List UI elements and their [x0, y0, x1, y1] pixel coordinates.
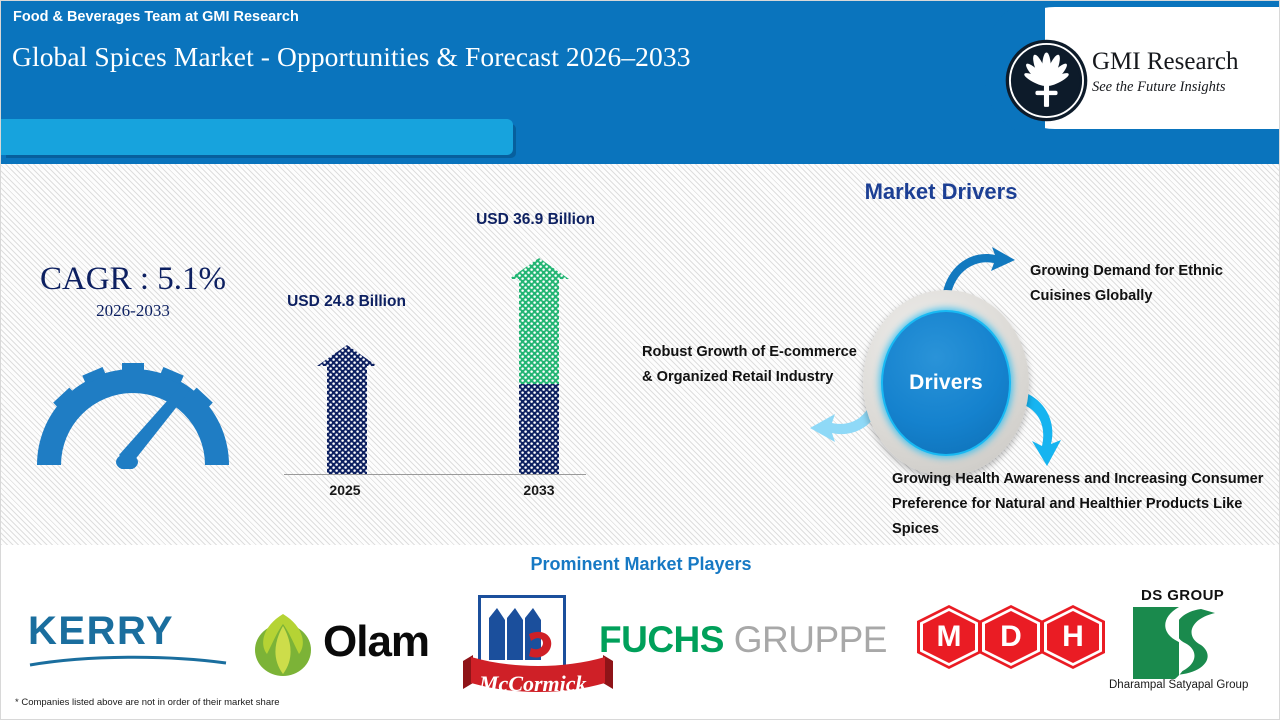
mdh-hex-h: H — [1041, 605, 1105, 669]
ds-group-subtitle: Dharampal Satyapal Group — [1109, 679, 1248, 691]
header-bar: Global Spices Market - Opportunities & F… — [1, 1, 1280, 164]
subtitle-text: Food & Beverages Team at GMI Research — [13, 9, 299, 25]
bar-tick-2033: 2033 — [498, 482, 580, 498]
page-title: Global Spices Market - Opportunities & F… — [12, 41, 872, 73]
drivers-hub: Drivers — [863, 290, 1029, 476]
cagr-value: CAGR : 5.1% — [13, 261, 253, 298]
speedometer-gauge-icon — [23, 339, 243, 469]
bar-value-label-2025: USD 24.8 Billion — [284, 290, 409, 314]
driver-item-0: Growing Demand for Ethnic Cuisines Globa… — [1030, 259, 1262, 309]
fuchs-logo-text: FUCHS — [599, 619, 724, 660]
market-drivers-title: Market Drivers — [761, 179, 1121, 205]
bar-2025-shape — [317, 345, 377, 474]
mdh-logo[interactable]: M D H — [917, 605, 1117, 675]
logo-tagline: See the Future Insights — [1092, 80, 1272, 95]
subtitle-banner — [1, 119, 513, 155]
market-players-section: Prominent Market Players KERRY Olam — [1, 545, 1280, 720]
ds-group-logo[interactable]: DS GROUP Dharampal Satyapal Group — [1109, 587, 1269, 691]
ds-group-name: DS GROUP — [1141, 587, 1224, 604]
kerry-logo[interactable]: KERRY — [28, 609, 228, 673]
gmi-palm-fan-icon — [1004, 38, 1089, 123]
drivers-hub-label: Drivers — [909, 371, 983, 395]
drivers-hub-inner: Drivers — [883, 312, 1009, 454]
mdh-hex-m: M — [917, 605, 981, 669]
mdh-hex-d: D — [979, 605, 1043, 669]
bar-value-label-2033: USD 36.9 Billion — [473, 208, 598, 232]
fuchs-gruppe-logo[interactable]: FUCHS GRUPPE — [599, 619, 887, 661]
bar-2033-shape — [509, 258, 569, 474]
infographic-root: Global Spices Market - Opportunities & F… — [0, 0, 1280, 720]
logo-row: KERRY Olam — [1, 587, 1280, 689]
content-area: CAGR : 5.1% 2026-2033 — [1, 164, 1280, 545]
ds-group-mark-icon — [1131, 607, 1223, 679]
drivers-hub-rim: Drivers — [881, 310, 1011, 456]
logo-name: GMI Research — [1092, 49, 1272, 74]
kerry-logo-text: KERRY — [28, 609, 228, 654]
gruppe-logo-text: GRUPPE — [734, 619, 887, 660]
bar-tick-2025: 2025 — [304, 482, 386, 498]
olam-logo-text: Olam — [323, 617, 429, 667]
logo-text: GMI Research See the Future Insights — [1092, 49, 1272, 95]
market-players-title: Prominent Market Players — [1, 554, 1280, 575]
bar-chart — [284, 184, 604, 524]
cagr-period: 2026-2033 — [13, 301, 253, 321]
driver-item-1: Robust Growth of E-commerce & Organized … — [642, 340, 860, 390]
kerry-swoosh-icon — [28, 654, 228, 668]
mccormick-wordmark: McCormick — [479, 671, 587, 697]
driver-item-2: Growing Health Awareness and Increasing … — [892, 467, 1272, 542]
mccormick-logo[interactable]: McCormick — [463, 589, 613, 701]
players-footnote: * Companies listed above are not in orde… — [15, 697, 280, 708]
olam-leaf-icon — [249, 610, 317, 678]
